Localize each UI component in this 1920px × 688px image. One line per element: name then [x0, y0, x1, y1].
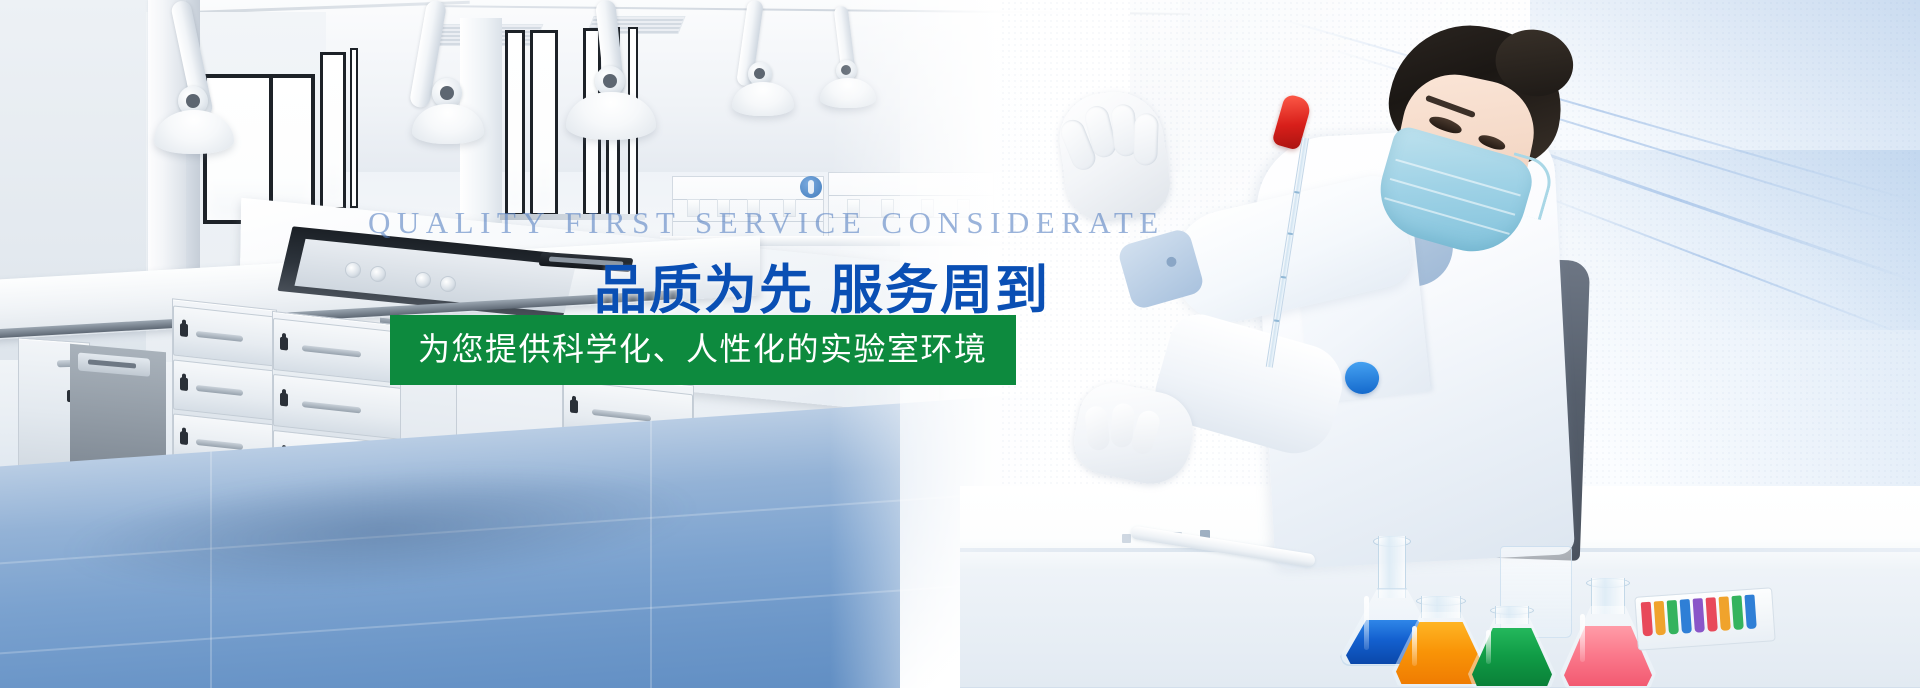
banner-text-overlay: QUALITY FIRST SERVICE CONSIDERATE 品质为先服务… [0, 0, 1920, 688]
hero-banner: QUALITY FIRST SERVICE CONSIDERATE 品质为先服务… [0, 0, 1920, 688]
banner-eyebrow-english: QUALITY FIRST SERVICE CONSIDERATE [368, 205, 1165, 241]
banner-headline: 品质为先服务周到 [594, 248, 1050, 324]
banner-tagline-box: 为您提供科学化、人性化的实验室环境 [390, 315, 1016, 385]
banner-tagline-text: 为您提供科学化、人性化的实验室环境 [418, 329, 988, 369]
headline-part-1: 品质为先 [594, 260, 814, 321]
headline-part-2: 服务周到 [830, 260, 1050, 321]
